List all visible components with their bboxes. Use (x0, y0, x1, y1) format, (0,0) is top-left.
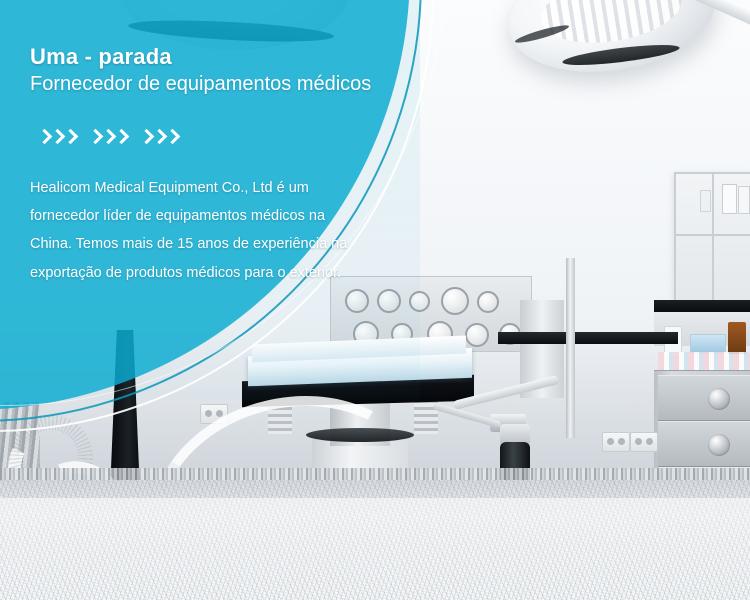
chevron-right-icon (115, 128, 126, 146)
equipment-crossbar (498, 332, 678, 344)
medical-equipment-hero-banner: Uma - parada Fornecedor de equipamentos … (0, 0, 750, 600)
chevron-right-icon (102, 128, 113, 146)
banner-subtitle: Fornecedor de equipamentos médicos (30, 72, 410, 96)
counter-top-edge (654, 300, 750, 312)
drawer-handle-icon (708, 434, 730, 456)
chevron-right-icon (140, 128, 151, 146)
wall-outlet (630, 432, 658, 452)
drawer-handle-icon (708, 388, 730, 410)
shelf-bottle (700, 190, 711, 212)
counter-supplies-tray (658, 352, 750, 370)
chevron-right-icon (38, 128, 49, 146)
chevron-decoration (38, 128, 410, 146)
iv-pole (566, 258, 575, 438)
chevron-right-icon (89, 128, 100, 146)
chevron-right-icon (153, 128, 164, 146)
chevron-group (89, 128, 126, 146)
shelf-box (722, 184, 737, 214)
wall-outlet (602, 432, 630, 452)
chevron-group (140, 128, 177, 146)
banner-description: Healicom Medical Equipment Co., Ltd é um… (30, 174, 360, 287)
counter-amber-bottle (728, 322, 746, 354)
chevron-right-icon (51, 128, 62, 146)
counter-supply-box (690, 334, 726, 354)
chevron-group (38, 128, 75, 146)
shelf-box-secondary (738, 186, 750, 214)
banner-content: Uma - parada Fornecedor de equipamentos … (30, 44, 410, 287)
chevron-right-icon (64, 128, 75, 146)
banner-title: Uma - parada (30, 44, 410, 70)
floor-reflection (0, 498, 750, 600)
chevron-right-icon (166, 128, 177, 146)
